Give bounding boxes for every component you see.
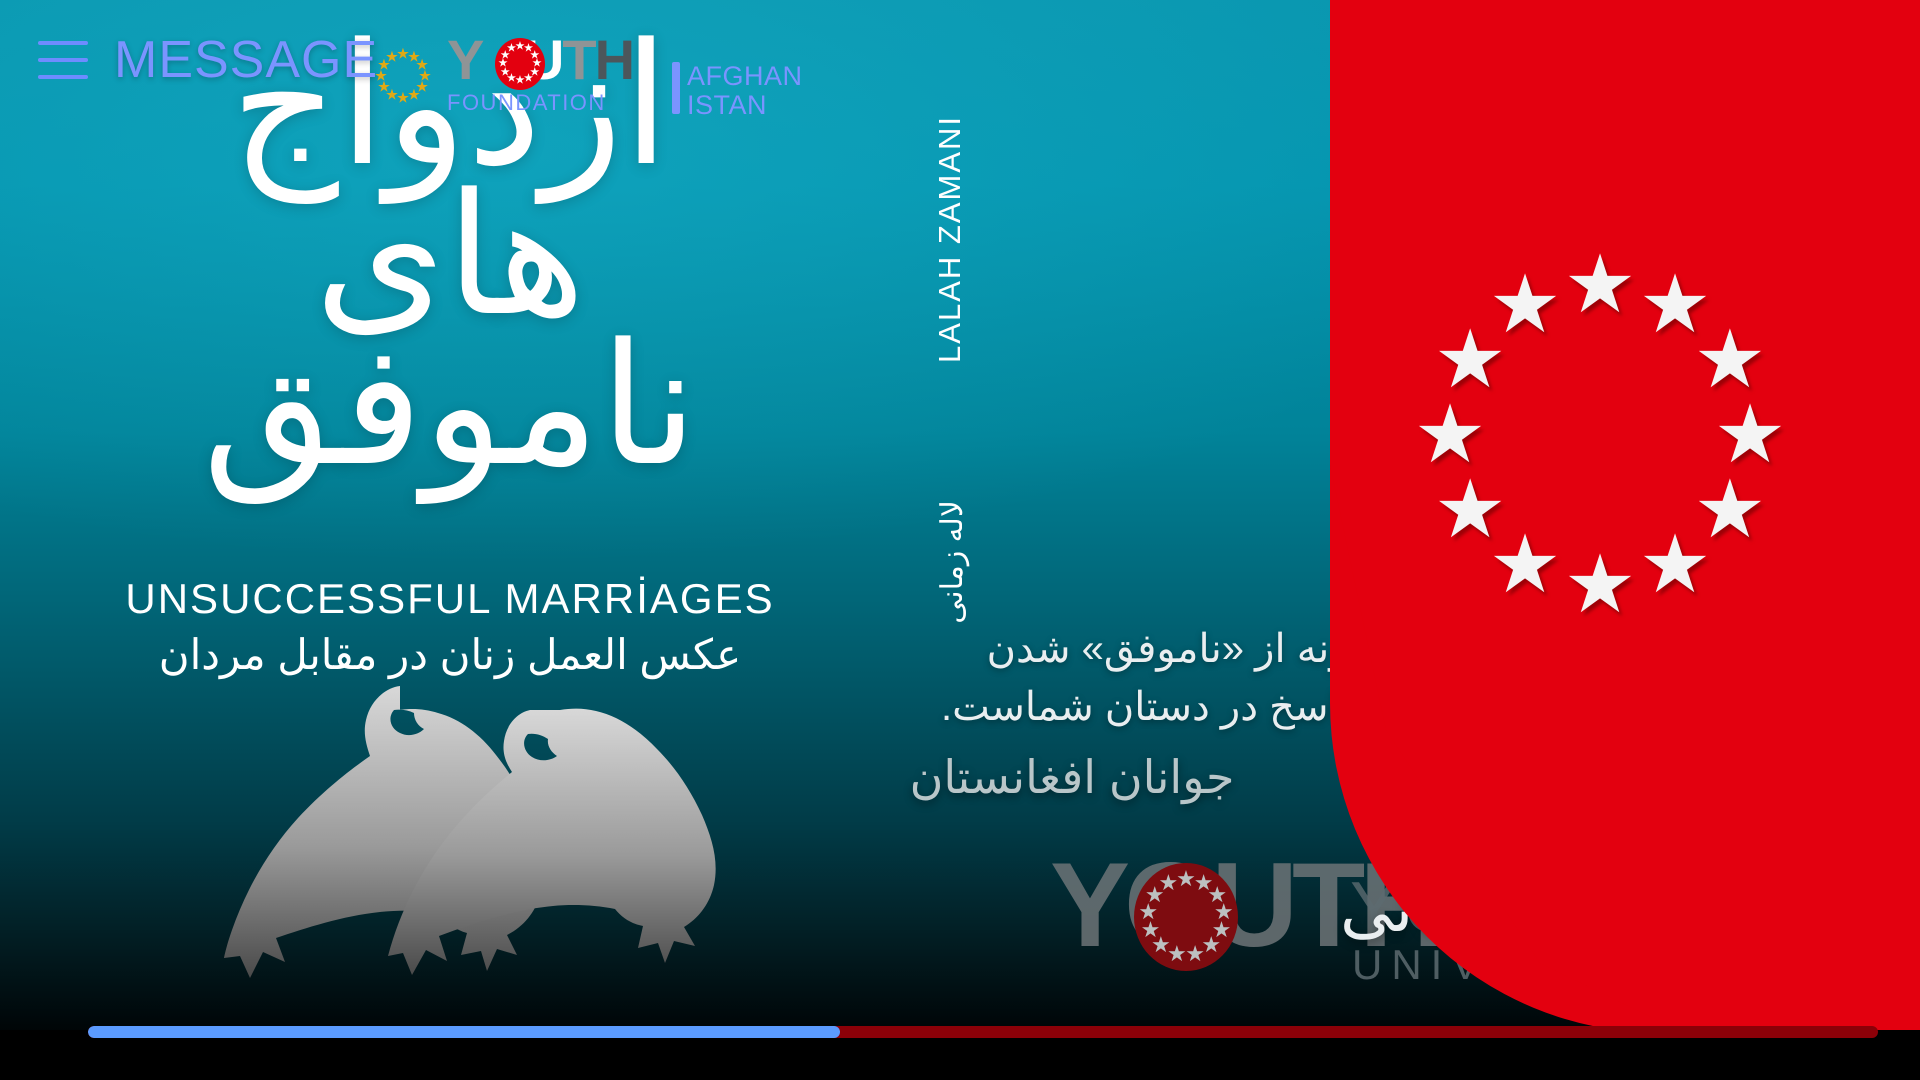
country-line-2: ISTAN [687, 91, 803, 120]
country-label: AFGHAN ISTAN [687, 62, 803, 120]
poster-subtitle-persian: عکس العمل زنان در مقابل مردان [0, 630, 900, 679]
logo-divider [672, 62, 680, 114]
poster-author-persian: لاله زمانی [935, 500, 970, 624]
eu-stars-ring-icon: ★★★★★★★★★★★★ [375, 48, 431, 104]
hamburger-line [38, 41, 88, 45]
eu-stars-circle: ★★★★★★★★★★★★ [1420, 255, 1780, 615]
progress-bar-fill [88, 1026, 840, 1038]
slideshow-viewer: ازدواج های ناموفق UNSUCCESSFUL MARRİAGES… [0, 0, 1920, 1080]
app-title: MESSAGE [114, 34, 378, 86]
youth-foundation-logo[interactable]: YOUTH ★★★★★★★★★★★★ FOUNDATION AFGHAN IST… [447, 32, 697, 112]
poster-author-latin: LALAH ZAMANI [932, 115, 968, 363]
youth-red-emblem-bottom: ★★★★★★★★★★★★★ [1134, 863, 1238, 971]
poster-body-line-2: کنید، پاسخ در دستان شماست. [680, 678, 1440, 736]
youth-letter-h: H [595, 28, 633, 91]
poster-title-line-2: های [0, 180, 900, 330]
hamburger-line [38, 58, 88, 62]
poster-subtitle-english: UNSUCCESSFUL MARRİAGES [0, 575, 900, 623]
progress-bar[interactable] [88, 1026, 1878, 1038]
country-line-1: AFGHAN [687, 62, 803, 91]
top-bar: MESSAGE [0, 0, 1920, 120]
youth-red-emblem-top: ★★★★★★★★★★★★ [495, 38, 545, 90]
hamburger-line [38, 75, 88, 79]
youth-letter-t: T [562, 28, 594, 91]
foundation-label: FOUNDATION [447, 90, 606, 116]
hamburger-menu-icon[interactable] [38, 41, 88, 79]
youth-letter-y: Y [447, 28, 482, 91]
poster-title-line-3: ناموفق [0, 330, 900, 480]
